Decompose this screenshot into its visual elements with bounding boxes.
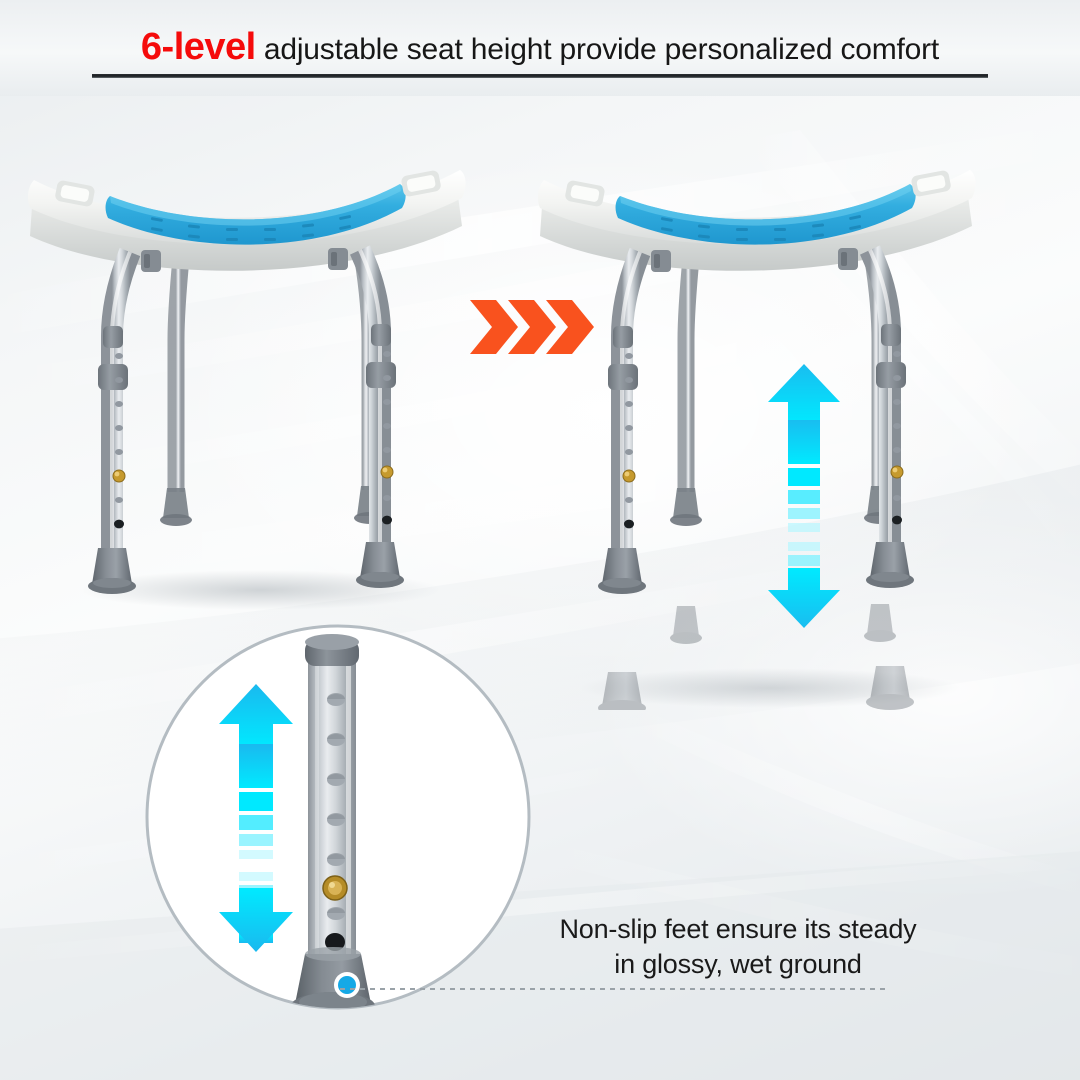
seat-bracket-right xyxy=(838,248,858,270)
leg-collar-right-upper xyxy=(371,324,391,346)
brass-knob-left xyxy=(113,470,125,482)
arrow-up-shaft xyxy=(239,744,273,788)
non-slip-foot-left xyxy=(598,548,646,594)
leg-pin-hole-left xyxy=(624,520,634,529)
stool-front-legs xyxy=(88,248,404,594)
page-title: 6-level adjustable seat height provide p… xyxy=(0,26,1080,69)
stool-front-legs xyxy=(598,248,914,594)
seat-assembly xyxy=(28,170,466,271)
leg-collar-left-upper xyxy=(103,326,123,348)
chevron-icon-1 xyxy=(470,300,518,354)
arrow-up-shaft xyxy=(788,420,820,464)
stool-right-raised-position xyxy=(520,140,990,710)
leg-collar-left-lower xyxy=(608,364,638,390)
caption-line-2: in glossy, wet ground xyxy=(518,947,958,982)
caption-line-1: Non-slip feet ensure its steady xyxy=(518,912,958,947)
non-slip-caption: Non-slip feet ensure its steady in gloss… xyxy=(518,912,958,982)
header-divider xyxy=(92,74,988,78)
callout-leader-line xyxy=(340,988,885,990)
leg-collar-right-upper xyxy=(881,324,901,346)
arrow-up-head xyxy=(768,364,840,424)
arrow-segment-d1 xyxy=(788,542,820,551)
seat-assembly xyxy=(538,170,976,271)
brass-knob xyxy=(323,876,347,900)
product-marketing-image: 6-level adjustable seat height provide p… xyxy=(0,0,1080,1080)
non-slip-foot-right xyxy=(356,542,404,588)
non-slip-foot-left xyxy=(88,548,136,594)
arrow-segment-u2 xyxy=(788,490,820,504)
arrow-segment-d2 xyxy=(788,555,820,566)
seat-bracket-left xyxy=(141,250,161,272)
arrow-segment-d1 xyxy=(239,872,273,881)
arrow-segment-u4 xyxy=(239,850,273,859)
leg-pin-hole-right xyxy=(892,516,902,525)
seat-bracket-left xyxy=(651,250,671,272)
leg-tube-top-cap xyxy=(305,634,359,666)
height-adjust-arrow-main xyxy=(762,362,846,630)
leg-collar-left-upper xyxy=(613,326,633,348)
leg-collar-right-lower xyxy=(876,362,906,388)
arrow-segment-u3 xyxy=(239,834,273,846)
brass-knob-right xyxy=(381,466,393,478)
leg-collar-right-lower xyxy=(366,362,396,388)
leg-collar-left-lower xyxy=(98,364,128,390)
arrow-segment-u1 xyxy=(788,468,820,486)
arrow-segment-u2 xyxy=(239,815,273,830)
leg-pin-hole-left xyxy=(114,520,124,529)
brass-knob-right xyxy=(891,466,903,478)
ghost-foot-rear-left xyxy=(670,606,702,644)
stool-rear-legs xyxy=(160,258,386,526)
magnifier-detail-callout xyxy=(143,622,533,1012)
foot-callout-dot xyxy=(334,972,360,998)
seat-bracket-right xyxy=(328,248,348,270)
stool-left-low-position xyxy=(10,140,480,610)
leg-pin-hole-right xyxy=(382,516,392,525)
header-banner: 6-level adjustable seat height provide p… xyxy=(0,0,1080,96)
arrow-down-head xyxy=(768,568,840,628)
brass-knob-left xyxy=(623,470,635,482)
arrow-segment-u3 xyxy=(788,508,820,519)
arrow-segment-u4 xyxy=(788,523,820,532)
title-rest: adjustable seat height provide personali… xyxy=(256,33,939,66)
arrow-segment-u1 xyxy=(239,792,273,811)
leg-tube-detail xyxy=(305,634,359,959)
title-highlight: 6-level xyxy=(141,26,256,68)
